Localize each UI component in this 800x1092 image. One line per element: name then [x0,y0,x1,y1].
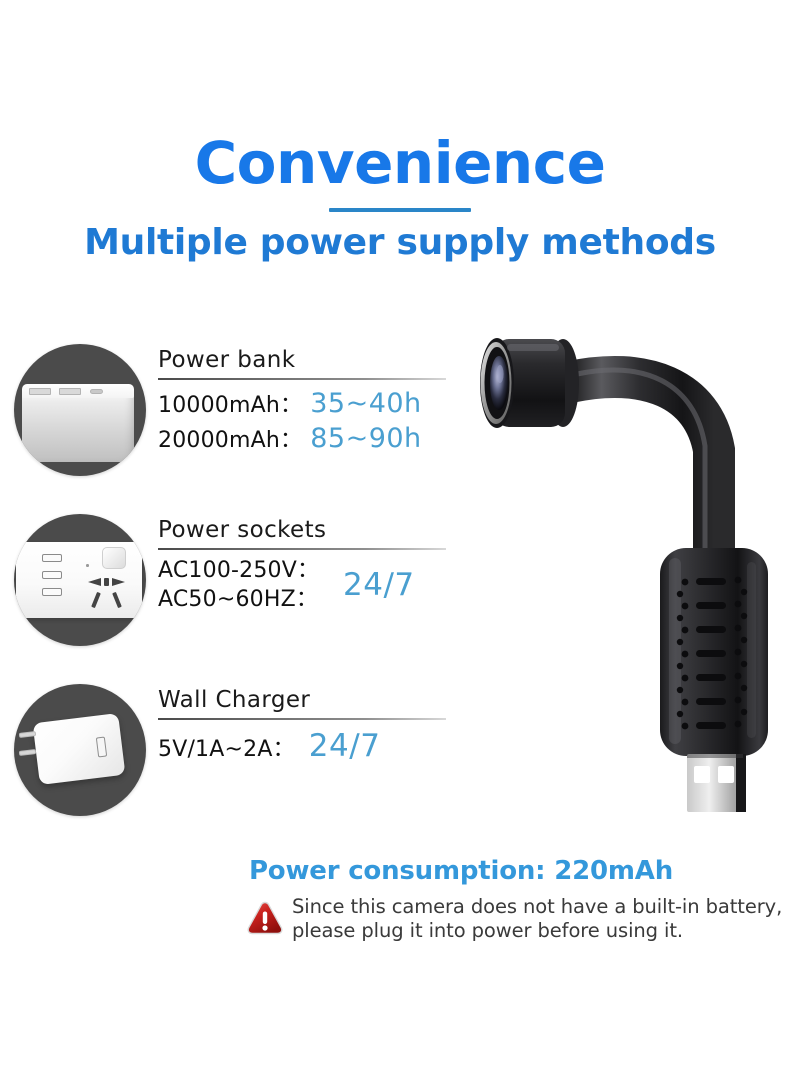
power-bank-usb-port [29,388,51,395]
socket-usb-port [42,571,62,579]
spec-body: 5V/1A~2A： 24/7 [158,726,458,767]
spec-list: Power bank 10000mAh： 35~40h 20000mAh： 85… [0,338,470,848]
spec-heading: Power sockets [158,516,458,545]
power-bank-usb-port [59,388,81,395]
icon-circle [14,344,146,476]
spec-row-power-bank: Power bank 10000mAh： 35~40h 20000mAh： 85… [0,338,470,508]
power-socket-icon [14,514,146,646]
spec-row-power-sockets: Power sockets AC100-250V： AC50~60HZ： 24/… [0,508,470,678]
icon-circle [14,514,146,646]
spec-label: 5V/1A~2A： [158,735,295,764]
socket-indicator-dot [86,564,89,567]
spec-heading: Wall Charger [158,686,458,715]
warning-line-2: please plug it into power before using i… [292,919,782,943]
spec-label: AC100-250V： [158,556,319,585]
spec-line: 5V/1A~2A： 24/7 [158,726,458,767]
charger-prong [19,749,36,756]
spec-text: Power bank 10000mAh： 35~40h 20000mAh： 85… [158,346,458,457]
warning-line-1: Since this camera does not have a built-… [292,895,782,919]
page-title: Convenience [0,0,800,192]
spec-line: 10000mAh： 35~40h [158,386,458,422]
spec-value: 35~40h [310,386,421,422]
usb-gooseneck-camera [455,330,800,850]
spec-body: AC100-250V： AC50~60HZ： 24/7 [158,556,458,614]
socket-switch [102,547,126,569]
warning-triangle-icon [246,900,284,936]
spec-row-wall-charger: Wall Charger 5V/1A~2A： 24/7 [0,678,470,848]
power-bank-body [22,390,134,462]
socket-usb-port [42,588,62,596]
power-consumption-text: Power consumption: 220mAh [0,856,800,887]
spec-divider [158,548,446,550]
socket-usb-port [42,554,62,562]
warning-text: Since this camera does not have a built-… [292,895,782,943]
spec-divider [158,378,446,380]
spec-label: 20000mAh： [158,426,302,455]
spec-value: 24/7 [309,726,381,767]
spec-text: Wall Charger 5V/1A~2A： 24/7 [158,686,458,767]
spec-text: Power sockets AC100-250V： AC50~60HZ： 24/… [158,516,458,614]
spec-body: 10000mAh： 35~40h 20000mAh： 85~90h [158,386,458,457]
spec-label: AC50~60HZ： [158,585,318,614]
spec-value: 24/7 [343,567,415,603]
spec-value: 85~90h [310,421,421,457]
charger-body [33,713,126,785]
page-subtitle: Multiple power supply methods [0,212,800,263]
footer: Power consumption: 220mAh Since this cam… [0,856,800,944]
spec-line: 20000mAh： 85~90h [158,421,458,457]
spec-label: 10000mAh： [158,391,302,420]
power-bank-micro-port [90,389,103,394]
socket-slot [104,578,109,586]
header: Convenience Multiple power supply method… [0,0,800,263]
spec-divider [158,718,446,720]
icon-circle [14,684,146,816]
spec-heading: Power bank [158,346,458,375]
warning-row: Since this camera does not have a built-… [0,895,800,943]
power-bank-icon [14,344,146,476]
wall-charger-icon [14,684,146,816]
